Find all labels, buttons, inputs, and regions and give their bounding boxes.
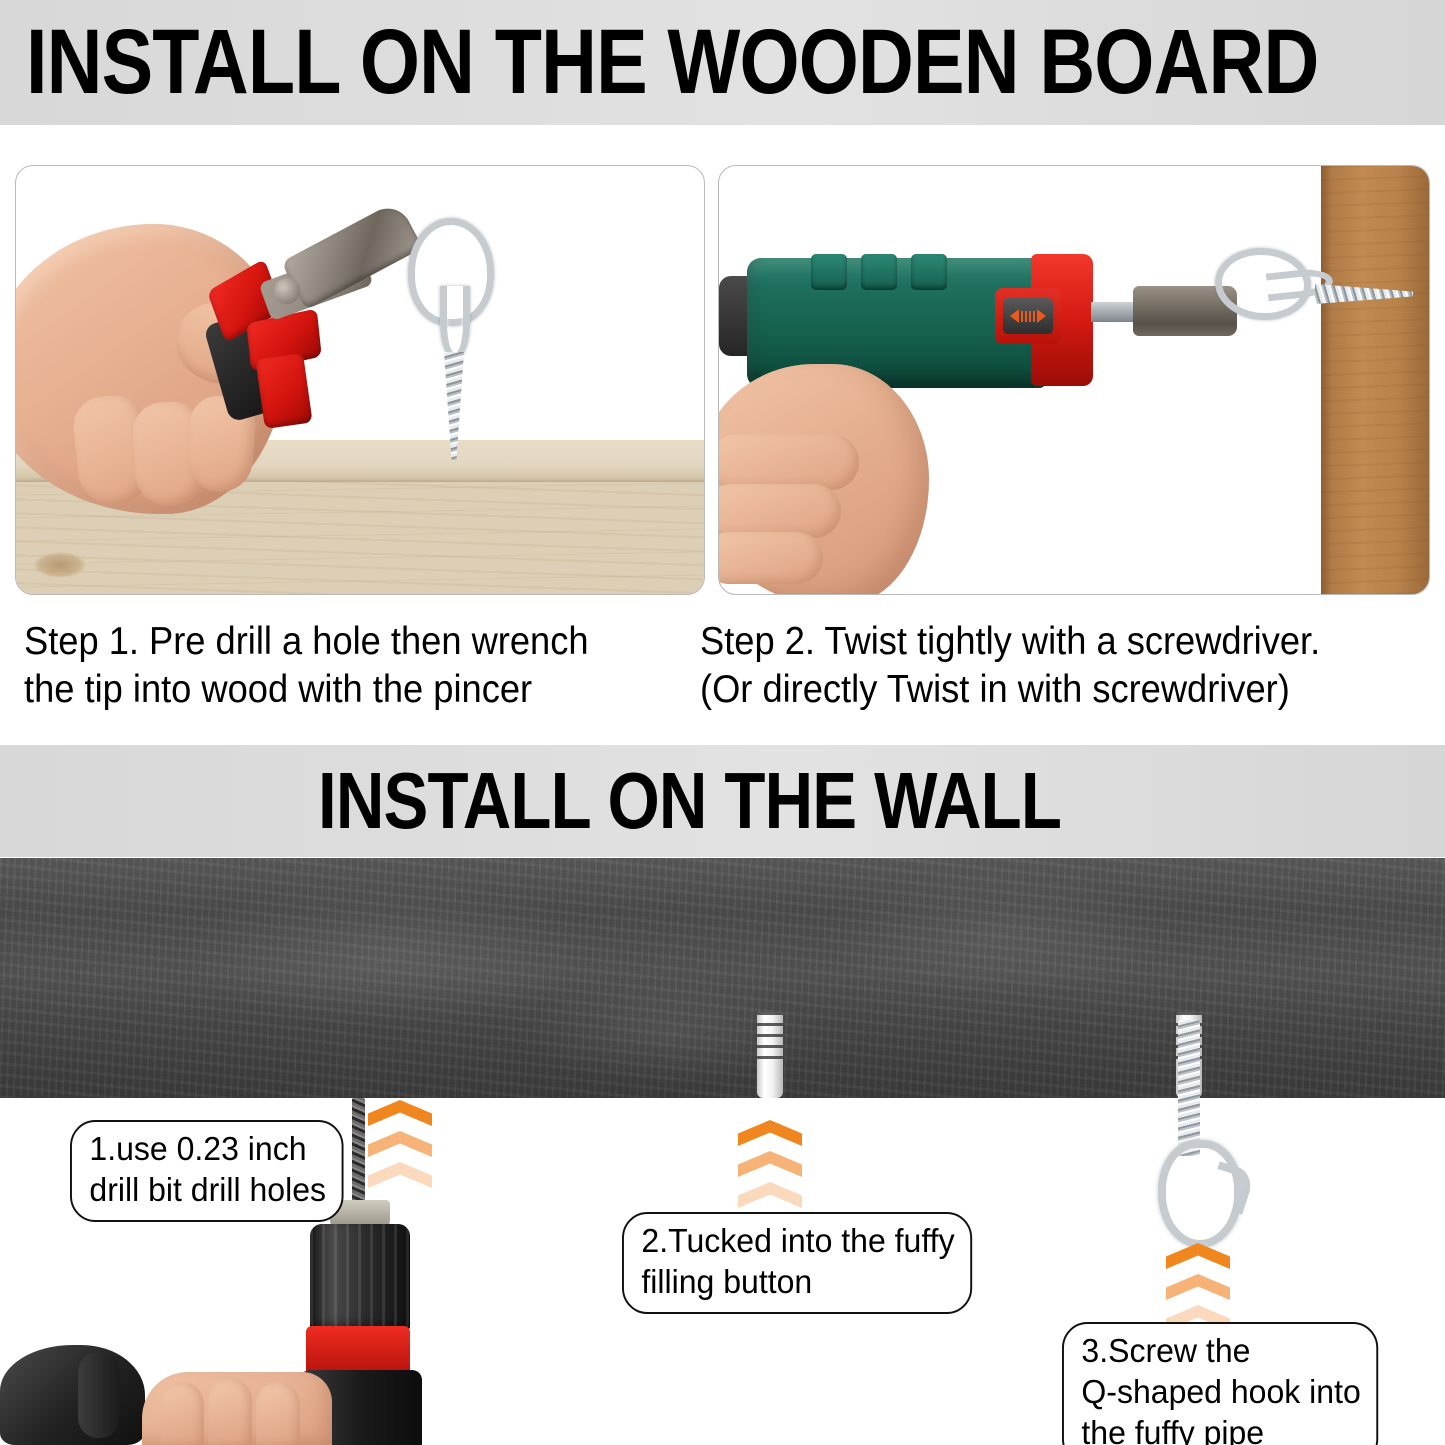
- pliers-pivot-bolt: [274, 278, 300, 304]
- chevron-arrows-step-2: [738, 1120, 802, 1213]
- q-hook-tail: [440, 286, 470, 360]
- product-instruction-infographic: INSTALL ON THE WOODEN BOARD: [0, 0, 1445, 1445]
- banner-install-on-wall: INSTALL ON THE WALL: [0, 745, 1445, 857]
- chevron-up-icon: [1166, 1243, 1230, 1269]
- step-2-caption: Step 2. Twist tightly with a screwdriver…: [700, 618, 1407, 714]
- drill-battery-cap: [0, 1345, 145, 1445]
- drill-bit: [352, 1098, 365, 1210]
- wall-highlight: [820, 868, 1180, 998]
- pliers-upper-jaw: [281, 200, 423, 310]
- wall-anchor-plug: [757, 1012, 783, 1098]
- drill-cap-ring: [78, 1352, 120, 1438]
- wall-surface-image: [0, 858, 1445, 1098]
- finger: [256, 1382, 300, 1445]
- step-1-photo: [15, 165, 705, 595]
- arrow-right-icon: [1037, 309, 1046, 323]
- arrow-left-icon: [1010, 309, 1019, 323]
- q-hook-screw-thread: [1178, 1020, 1200, 1156]
- chevron-up-icon: [738, 1182, 802, 1208]
- screwdriver-vent: [861, 254, 897, 290]
- chevron-up-icon: [738, 1120, 802, 1146]
- wooden-post-image: [1321, 166, 1429, 594]
- callout-step-2: 2.Tucked into the fuffy filling button: [622, 1212, 972, 1314]
- finger: [208, 1378, 252, 1445]
- screwdriver-shaft: [1091, 302, 1137, 322]
- wood-knot: [34, 552, 86, 578]
- finger: [718, 532, 823, 584]
- drill-red-collar: [306, 1326, 410, 1376]
- switch-bars-icon: [1021, 311, 1035, 322]
- screwdriver-vent: [811, 254, 847, 290]
- pliers-red-handle: [255, 353, 312, 429]
- anchor-ribs: [757, 1012, 783, 1062]
- chevron-up-icon: [738, 1151, 802, 1177]
- wall-highlight: [180, 878, 600, 1028]
- chevron-up-icon: [368, 1100, 432, 1126]
- chevron-arrows-step-1: [368, 1100, 432, 1193]
- banner-install-on-wooden-board: INSTALL ON THE WOODEN BOARD: [0, 0, 1445, 125]
- step-1-caption: Step 1. Pre drill a hole then wrench the…: [24, 618, 675, 714]
- screwdriver-direction-switch[interactable]: [995, 288, 1061, 344]
- finger: [160, 1382, 204, 1445]
- drill-chuck: [310, 1224, 410, 1332]
- chevron-up-icon: [368, 1131, 432, 1157]
- banner-wooden-board-title: INSTALL ON THE WOODEN BOARD: [26, 10, 1318, 115]
- callout-step-1: 1.use 0.23 inch drill bit drill holes: [70, 1120, 343, 1222]
- finger: [718, 434, 859, 490]
- callout-step-3: 3.Screw the Q-shaped hook into the fuffy…: [1062, 1322, 1378, 1445]
- screwdriver-vent: [911, 254, 947, 290]
- chevron-up-icon: [1166, 1274, 1230, 1300]
- finger: [718, 484, 841, 538]
- direction-switch-face: [1003, 298, 1053, 334]
- banner-wall-title: INSTALL ON THE WALL: [318, 755, 1061, 847]
- chuck-grip-lines: [310, 1224, 410, 1332]
- chevron-up-icon: [368, 1162, 432, 1188]
- step-2-photo: [718, 165, 1430, 595]
